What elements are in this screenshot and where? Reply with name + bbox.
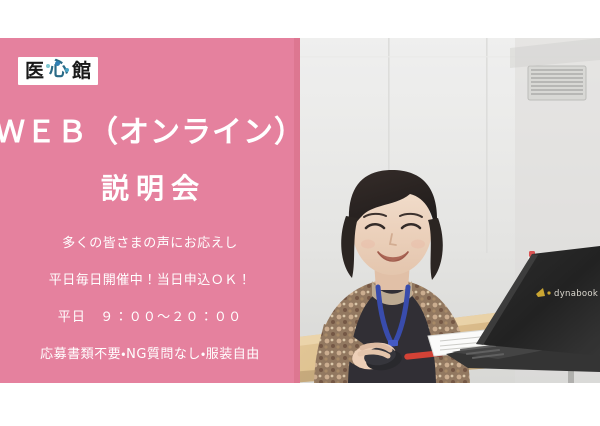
detail-line-voices: 多くの皆さまの声にお応えし	[62, 232, 238, 251]
detail-line-schedule: 平日毎日開催中！当日申込ＯＫ！	[49, 269, 252, 288]
logo-char-i: 医	[25, 62, 44, 81]
ishinkan-logo: 医 心 館	[18, 57, 98, 85]
logo-char-kokoro-with-dots: 心	[46, 60, 70, 82]
logo-dot-icon-3	[65, 68, 69, 72]
logo-dot-icon-1	[46, 64, 50, 68]
detail-line-hours: 平日 ９：００〜２０：００	[58, 306, 243, 325]
logo-dot-icon-2	[55, 61, 60, 66]
staff-photo: dynabook	[300, 38, 600, 383]
pink-info-panel: 医 心 館 ＷＥＢ（オンライン） 説明会 多くの皆さまの声にお応えし 平日毎日開…	[0, 38, 300, 383]
headline-secondary: 説明会	[94, 167, 206, 207]
staff-photo-illustration: dynabook	[300, 38, 600, 383]
detail-line-policy: 応募書類不要・NG質問なし・服装自由	[40, 343, 260, 362]
detail-list: 多くの皆さまの声にお応えし 平日毎日開催中！当日申込ＯＫ！ 平日 ９：００〜２０…	[0, 232, 300, 362]
headline-primary: ＷＥＢ（オンライン）	[0, 107, 305, 151]
promo-banner: 医 心 館 ＷＥＢ（オンライン） 説明会 多くの皆さまの声にお応えし 平日毎日開…	[0, 38, 600, 383]
logo-char-kan: 館	[72, 62, 91, 81]
